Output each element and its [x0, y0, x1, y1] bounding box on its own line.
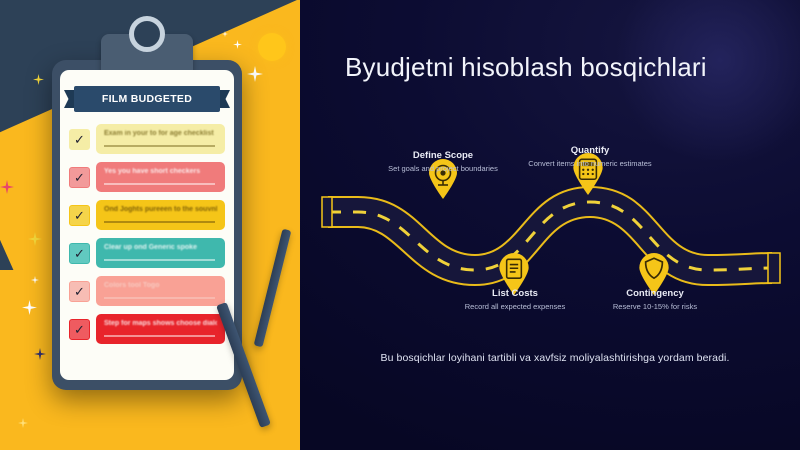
checklist-row[interactable]: ✓Clear up ond Generic spoke — [69, 238, 225, 268]
step-label-contingency: Contingency Reserve 10-15% for risks — [580, 288, 730, 313]
checklist-item-bar: Colors tool Togo — [96, 276, 225, 306]
clipboard-paper: FILM BUDGETED ✓Exam in your to for age c… — [60, 70, 234, 380]
step-label-quantify: Quantify Convert items into numeric esti… — [515, 145, 665, 170]
banner-tail-left — [64, 90, 74, 108]
sparkle-icon — [222, 31, 228, 37]
page-title: Byudjetni hisoblash bosqichlari — [345, 50, 745, 84]
sparkle-icon — [247, 66, 263, 82]
checkbox-icon[interactable]: ✓ — [69, 243, 90, 264]
banner-tail-right — [220, 90, 230, 108]
step-label-define-scope: Define Scope Set goals and project bound… — [368, 150, 518, 175]
step-desc: Reserve 10-15% for risks — [580, 302, 730, 313]
checklist-item-rule — [104, 259, 215, 261]
checkbox-icon[interactable]: ✓ — [69, 129, 90, 150]
right-content-panel: Byudjetni hisoblash bosqichlari — [300, 0, 800, 450]
step-title: Quantify — [515, 145, 665, 156]
checkbox-icon[interactable]: ✓ — [69, 167, 90, 188]
checklist-row[interactable]: ✓Exam in your to for age checklist — [69, 124, 225, 154]
checklist-row[interactable]: ✓Yes you have short checkers — [69, 162, 225, 192]
sparkle-icon — [233, 40, 242, 49]
checklist-item-text: Exam in your to for age checklist — [104, 130, 217, 137]
checklist-item-bar: Step for maps shows choose dialor — [96, 314, 225, 344]
checklist-item-text: Colors tool Togo — [104, 282, 217, 289]
step-label-list-costs: List Costs Record all expected expenses — [440, 288, 590, 313]
clipboard-clip-ring — [129, 16, 165, 52]
checklist-item-rule — [104, 335, 215, 337]
sparkle-icon — [28, 232, 42, 246]
checklist-row[interactable]: ✓Ond Joghts pureeen to the souvnl — [69, 200, 225, 230]
sparkle-icon — [33, 74, 44, 85]
left-illustration-panel: FILM BUDGETED ✓Exam in your to for age c… — [0, 0, 300, 450]
shield-icon — [636, 252, 670, 292]
document-list-icon — [496, 252, 530, 292]
checklist-item-bar: Yes you have short checkers — [96, 162, 225, 192]
checklist-rows: ✓Exam in your to for age checklist✓Yes y… — [69, 124, 225, 344]
step-title: List Costs — [440, 288, 590, 299]
yellow-dot-icon — [258, 33, 286, 61]
slide-root: FILM BUDGETED ✓Exam in your to for age c… — [0, 0, 800, 450]
checklist-item-rule — [104, 145, 215, 147]
sparkle-icon — [34, 348, 46, 360]
sparkle-icon — [31, 276, 39, 284]
checklist-item-rule — [104, 297, 215, 299]
checklist-item-rule — [104, 183, 215, 185]
checklist-row[interactable]: ✓Colors tool Togo — [69, 276, 225, 306]
checkbox-icon[interactable]: ✓ — [69, 281, 90, 302]
checklist-banner: FILM BUDGETED — [74, 86, 220, 112]
clipboard: FILM BUDGETED ✓Exam in your to for age c… — [52, 60, 242, 390]
checkbox-icon[interactable]: ✓ — [69, 205, 90, 226]
checklist-item-bar: Exam in your to for age checklist — [96, 124, 225, 154]
sparkle-icon — [18, 418, 28, 428]
step-desc: Convert items into numeric estimates — [515, 159, 665, 170]
step-desc: Set goals and project boundaries — [368, 164, 518, 175]
checklist-item-text: Step for maps shows choose dialor — [104, 320, 217, 327]
sparkle-icon — [22, 300, 37, 315]
checklist-row[interactable]: ✓Step for maps shows choose dialor — [69, 314, 225, 344]
sparkle-icon — [0, 180, 14, 194]
checklist-item-text: Ond Joghts pureeen to the souvnl — [104, 206, 217, 213]
step-desc: Record all expected expenses — [440, 302, 590, 313]
checklist-item-bar: Ond Joghts pureeen to the souvnl — [96, 200, 225, 230]
checklist-item-bar: Clear up ond Generic spoke — [96, 238, 225, 268]
checklist-item-text: Yes you have short checkers — [104, 168, 217, 175]
step-title: Contingency — [580, 288, 730, 299]
checkbox-icon[interactable]: ✓ — [69, 319, 90, 340]
slide-caption: Bu bosqichlar loyihani tartibli va xavfs… — [340, 352, 770, 364]
step-title: Define Scope — [368, 150, 518, 161]
checklist-item-rule — [104, 221, 215, 223]
banner-title: FILM BUDGETED — [102, 93, 192, 105]
checklist-item-text: Clear up ond Generic spoke — [104, 244, 217, 251]
